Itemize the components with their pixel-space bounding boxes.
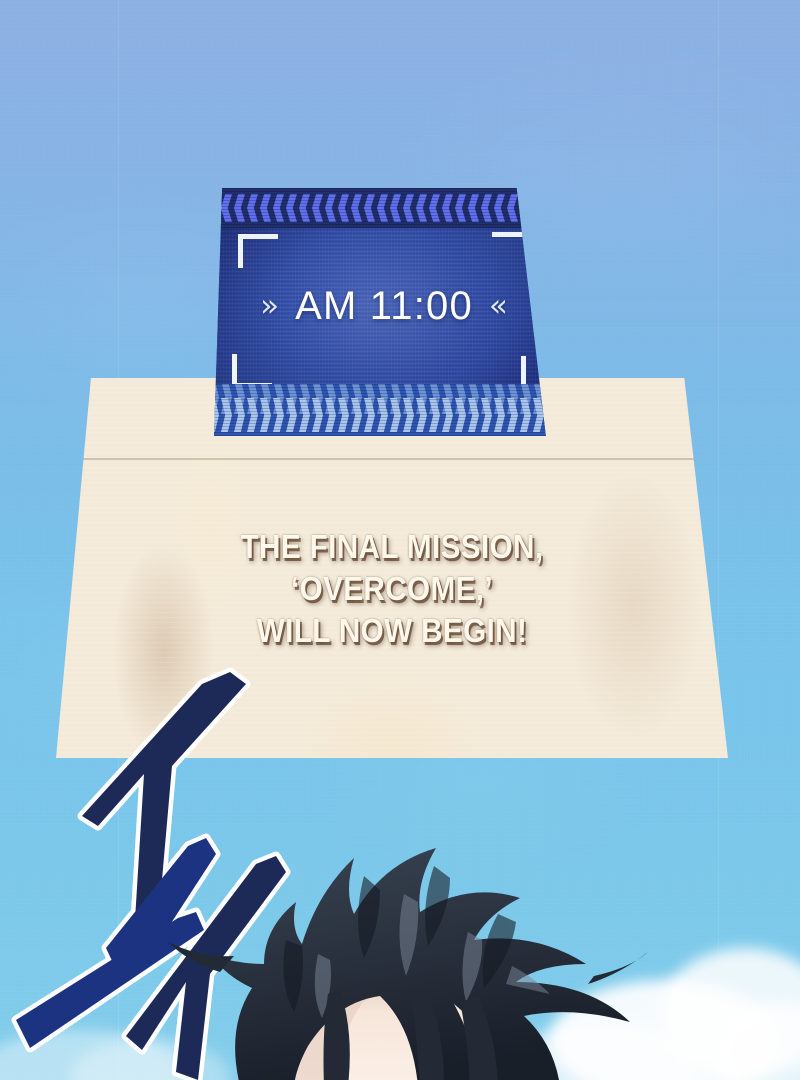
board-shadow-line <box>56 458 728 460</box>
chevron-band-bottom-icon <box>208 384 560 436</box>
viewfinder-corner-top-left-icon <box>238 234 278 268</box>
time-marker-left-icon: » <box>260 291 279 322</box>
digital-time-sign: » AM 11:00 « <box>214 188 554 436</box>
viewfinder-corner-bottom-left-icon <box>232 354 272 388</box>
time-marker-right-icon: « <box>489 291 508 322</box>
comic-panel: THE FINAL MISSION, ‘OVERCOME,’ WILL NOW … <box>0 0 800 1080</box>
chevron-band-top-icon <box>208 188 560 228</box>
protagonist-head <box>168 836 648 1080</box>
time-value: AM 11:00 <box>295 284 473 329</box>
paper-seam-right <box>718 0 719 1080</box>
time-readout: » AM 11:00 « <box>214 284 554 329</box>
chevron-scanlines <box>208 188 560 228</box>
board-message-text: THE FINAL MISSION, ‘OVERCOME,’ WILL NOW … <box>90 526 695 652</box>
chevron-scanlines <box>208 384 560 436</box>
